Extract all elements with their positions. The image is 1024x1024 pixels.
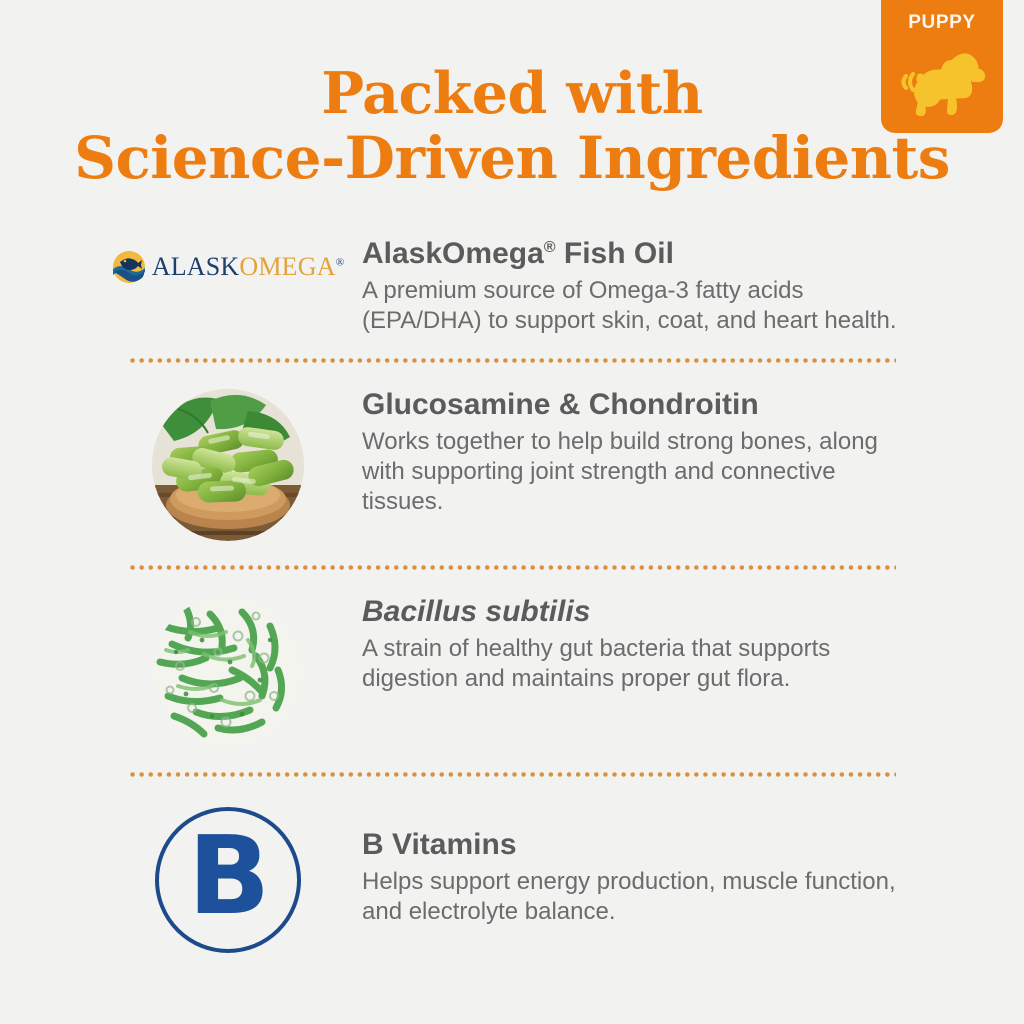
ingredient-text: AlaskOmega® Fish Oil A premium source of…	[328, 228, 900, 336]
alaskomega-logo: ALASKOMEGA®	[112, 232, 345, 284]
b-vitamin-badge-icon: B	[155, 807, 301, 953]
page-title: Packed with Science-Driven Ingredients	[0, 62, 1024, 190]
ingredient-title-main: AlaskOmega	[362, 237, 544, 270]
alaskomega-alask-text: ALASK	[152, 252, 240, 281]
page-title-line-1: Packed with	[0, 62, 1024, 126]
ingredient-row: Glucosamine & Chondroitin Works together…	[0, 385, 1024, 541]
ingredient-row: B B Vitamins Helps support energy produc…	[0, 803, 1024, 953]
ingredient-media-alaskomega: ALASKOMEGA®	[128, 228, 328, 284]
ingredient-title-tail: Fish Oil	[556, 237, 674, 270]
green-capsules-photo	[152, 389, 304, 541]
ingredient-media-b-vitamin: B	[128, 803, 328, 953]
ingredient-title: AlaskOmega® Fish Oil	[362, 230, 900, 272]
ingredient-text: Bacillus subtilis A strain of healthy gu…	[328, 592, 900, 694]
ingredient-title: Bacillus subtilis	[362, 594, 900, 630]
ingredient-media-bacteria	[128, 592, 328, 748]
ingredient-text: Glucosamine & Chondroitin Works together…	[328, 385, 900, 517]
b-vitamin-letter: B	[188, 823, 268, 931]
ingredient-media-capsules	[128, 385, 328, 541]
ingredient-description: A strain of healthy gut bacteria that su…	[362, 634, 900, 694]
ingredient-row: ALASKOMEGA® AlaskOmega® Fish Oil A premi…	[0, 228, 1024, 336]
ingredient-row: Bacillus subtilis A strain of healthy gu…	[0, 592, 1024, 748]
ingredient-description: Works together to help build strong bone…	[362, 427, 900, 517]
alaskomega-omega-text: OMEGA	[239, 252, 335, 281]
ingredient-text: B Vitamins Helps support energy producti…	[328, 803, 900, 927]
alaskomega-wordmark: ALASKOMEGA®	[152, 254, 345, 280]
bacteria-microscopy-photo	[152, 596, 304, 748]
ingredient-title-registered: ®	[544, 239, 556, 256]
section-divider	[128, 565, 896, 570]
ingredient-title: Glucosamine & Chondroitin	[362, 387, 900, 423]
section-divider	[128, 772, 896, 777]
section-divider	[128, 358, 896, 363]
page-title-line-2: Science-Driven Ingredients	[0, 126, 1024, 190]
ingredient-list: ALASKOMEGA® AlaskOmega® Fish Oil A premi…	[0, 228, 1024, 953]
ingredient-description: Helps support energy production, muscle …	[362, 867, 900, 927]
alaskomega-fish-wave-icon	[112, 250, 146, 284]
ingredient-description: A premium source of Omega-3 fatty acids …	[362, 276, 900, 336]
puppy-badge-label: PUPPY	[881, 12, 1003, 34]
ingredient-title: B Vitamins	[362, 827, 900, 863]
